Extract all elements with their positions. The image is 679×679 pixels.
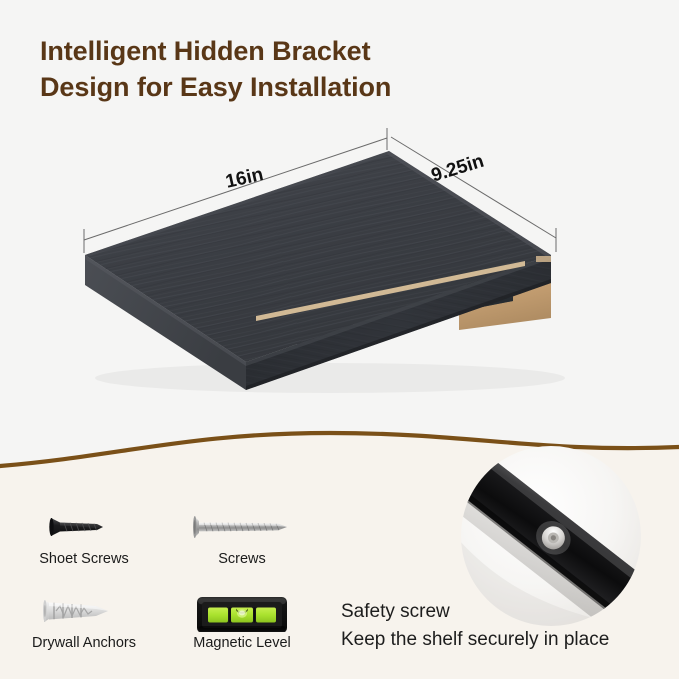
accessory-label: Magnetic Level xyxy=(176,635,308,651)
accessory-label: Screws xyxy=(176,551,308,567)
black-screw-icon xyxy=(18,506,150,548)
accessory-label: Shoet Screws xyxy=(18,551,150,567)
silver-screw-icon xyxy=(176,506,308,548)
drywall-anchor-icon xyxy=(18,590,150,632)
safety-screw-callout: Safety screw Keep the shelf securely in … xyxy=(341,598,609,654)
shelf-illustration xyxy=(0,0,679,470)
callout-line-2: Keep the shelf securely in place xyxy=(341,626,609,654)
product-infographic: Intelligent Hidden Bracket Design for Ea… xyxy=(0,0,679,679)
magnetic-level-icon xyxy=(176,590,308,632)
accessory-label: Drywall Anchors xyxy=(18,635,150,651)
callout-line-1: Safety screw xyxy=(341,598,609,626)
